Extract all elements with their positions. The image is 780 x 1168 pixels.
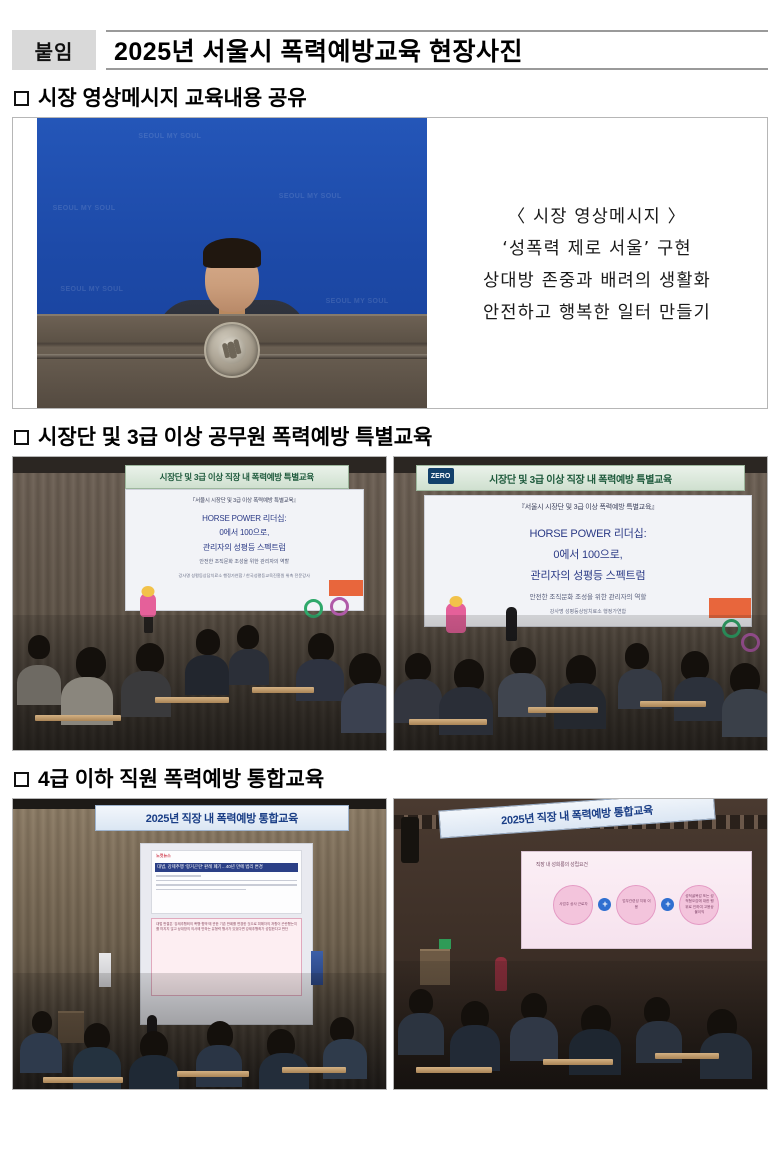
photo-mayor-video-message: SEOUL MY SOUL SEOUL MY SOUL SEOUL MY SOU…	[37, 118, 427, 408]
attendee-shoulders	[554, 683, 606, 729]
attachment-tag: 붙임	[12, 30, 96, 70]
desk	[655, 1053, 719, 1059]
mayor-message-panel: 〈 시장 영상메시지 〉 ‘성폭력 제로 서울’ 구현 상대방 존중과 배려의 …	[427, 118, 767, 408]
photo-executive-training-closeup: 시장단 및 3급 이상 직장 내 폭력예방 특별교육 ZERO 『서울시 시장단…	[393, 456, 768, 751]
diagram-circle: 업무관련성 지위 이용	[616, 885, 656, 925]
backdrop-watermark: SEOUL MY SOUL	[138, 133, 201, 141]
desk	[177, 1071, 249, 1077]
desk	[409, 719, 487, 725]
photo-staff-training-closeup: 2025년 직장 내 폭력예방 통합교육 직장 내 성희롱의 성립요건 사업주 …	[393, 798, 768, 1090]
attendee-head	[237, 625, 259, 649]
desk	[543, 1059, 613, 1065]
section-heading-mayor-video-message: 시장 영상메시지 교육내용 공유	[14, 88, 768, 109]
header-title-rule: 2025년 서울시 폭력예방교육 현장사진	[106, 30, 768, 70]
plus-icon: +	[661, 898, 674, 911]
desk	[528, 707, 598, 713]
attendee-shoulders	[722, 689, 768, 737]
attendee-head	[308, 633, 334, 661]
attendee-head	[510, 647, 536, 675]
page-title: 2025년 서울시 폭력예방교육 현장사진	[114, 32, 523, 68]
attendee-shoulders	[394, 679, 442, 723]
diagram-circle: 사업주 상사 근로자	[553, 885, 593, 925]
slide-line-3: 관리자의 성평등 스펙트럼	[425, 568, 751, 585]
mascot-figure	[140, 593, 156, 617]
event-banner: 시장단 및 3급 이상 직장 내 폭력예방 특별교육	[125, 465, 349, 489]
news-body-line	[156, 884, 297, 886]
slide-main-title: HORSE POWER 리더십:	[126, 513, 363, 525]
checkbox-icon	[14, 430, 29, 445]
attendee-head	[32, 1011, 52, 1033]
slide-footer: 강사명 성평등상담치료소 행정가연합 / 한국성평등교육진흥원 위촉 전문강사	[126, 573, 363, 579]
attendee-head	[625, 643, 649, 669]
podium	[37, 314, 427, 408]
event-banner-label: 시장단 및 3급 이상 직장 내 폭력예방 특별교육	[160, 471, 314, 483]
slide-subtitle: 안전한 조직문화 조성을 위한 관리자의 역할	[126, 558, 363, 565]
plus-icon: +	[598, 898, 611, 911]
desk	[155, 697, 229, 703]
event-banner: 시장단 및 3급 이상 직장 내 폭력예방 특별교육	[416, 465, 744, 491]
attendee-shoulders	[323, 1039, 367, 1079]
projection-screen: 직장 내 성희롱의 성립요건 사업주 상사 근로자 + 업무관련성 지위 이용 …	[521, 851, 752, 949]
photo-executive-training-wide: 시장단 및 3급 이상 직장 내 폭력예방 특별교육 『서울시 시장단 및 3급…	[12, 456, 387, 751]
news-headline-bar: 대법, 강제추행 ‘항거곤란’ 판례 폐기…40년 만에 법리 변경	[155, 863, 298, 872]
attendee-shoulders	[121, 671, 171, 717]
attendee-shoulders	[450, 1025, 500, 1071]
attendee-head	[196, 629, 220, 655]
diagram-circle: 성적굴욕감 또는 성적혐오감에 대한 행위로 인하여 고용상 불이익	[679, 885, 719, 925]
attendee-shoulders	[510, 1017, 558, 1061]
zero-campaign-logo-icon: ZERO	[428, 468, 454, 484]
attendee-shoulders	[398, 1013, 444, 1055]
document-header: 붙임 2025년 서울시 폭력예방교육 현장사진	[12, 30, 768, 70]
attendee-shoulders	[20, 1033, 62, 1073]
desk	[282, 1067, 346, 1073]
event-banner: 2025년 직장 내 폭력예방 통합교육	[95, 805, 349, 831]
news-outlet-logo: 노컷뉴스	[156, 853, 301, 859]
slide-title: 직장 내 성희롱의 성립요건	[536, 861, 751, 868]
stage-speaker-box	[401, 817, 419, 863]
projection-screen: 『서울시 시장단 및 3급 이상 폭력예방 특별교육』 HORSE POWER …	[424, 495, 752, 627]
slide-line-3: 관리자의 성평등 스펙트럼	[126, 542, 363, 554]
message-line: 안전하고 행복한 일터 만들기	[483, 299, 711, 324]
slide-note-text: 대법 판결은 ‘강제추행죄의 폭행·협박’에 관한 기존 판례를 변경한 것으로…	[152, 919, 301, 936]
desk	[43, 1077, 123, 1083]
slide-line-2: 0에서 100으로,	[425, 547, 751, 564]
slide-bracket-title: 『서울시 시장단 및 3급 이상 폭력예방 특별교육』	[126, 496, 363, 504]
attendee-shoulders	[674, 677, 724, 721]
seoul-metropolitan-government-emblem-icon	[204, 322, 260, 378]
attendee-shoulders	[73, 1047, 121, 1090]
section-heading-label: 시장 영상메시지 교육내용 공유	[38, 88, 307, 109]
news-body-line	[156, 889, 245, 891]
slide-line-2: 0에서 100으로,	[126, 527, 363, 539]
slide-accent-block	[329, 580, 363, 596]
attendee-shoulders	[439, 687, 493, 735]
attendee-shoulders	[17, 665, 61, 705]
message-line: 〈 시장 영상메시지 〉	[508, 203, 687, 228]
attendee-head	[76, 647, 106, 679]
desk	[640, 701, 706, 707]
message-line: ‘성폭력 제로 서울’ 구현	[502, 235, 692, 260]
attendee-head	[28, 635, 50, 659]
event-banner-label: 시장단 및 3급 이상 직장 내 폭력예방 특별교육	[489, 471, 672, 486]
document-page: 붙임 2025년 서울시 폭력예방교육 현장사진 시장 영상메시지 교육내용 공…	[0, 30, 780, 1168]
attendee-head	[349, 653, 381, 687]
projection-screen: 『서울시 시장단 및 3급 이상 폭력예방 특별교육』 HORSE POWER …	[125, 489, 364, 611]
attendee-shoulders	[569, 1029, 621, 1075]
slide-subtitle: 안전한 조직문화 조성을 위한 관리자의 역할	[425, 591, 751, 601]
attendee-shoulders	[341, 683, 387, 733]
checkbox-icon	[14, 772, 29, 787]
attendee-shoulders	[196, 1045, 242, 1087]
frame-left-pad	[13, 118, 37, 408]
attendee-head	[405, 653, 431, 681]
speaker-hair	[203, 238, 261, 268]
backdrop-watermark: SEOUL MY SOUL	[53, 205, 116, 213]
slide-bracket-title: 『서울시 시장단 및 3급 이상 폭력예방 특별교육』	[425, 502, 751, 512]
backdrop-watermark: SEOUL MY SOUL	[326, 298, 389, 306]
attendee-shoulders	[229, 649, 269, 685]
message-line: 상대방 존중과 배려의 생활화	[483, 267, 711, 292]
photo-row-executive-training: 시장단 및 3급 이상 직장 내 폭력예방 특별교육 『서울시 시장단 및 3급…	[12, 456, 768, 751]
attendee-head	[136, 643, 164, 673]
section-heading-executive-special-training: 시장단 및 3급 이상 공무원 폭력예방 특별교육	[14, 427, 768, 448]
event-banner-label: 2025년 직장 내 폭력예방 통합교육	[500, 802, 653, 829]
photo-row-staff-training: 2025년 직장 내 폭력예방 통합교육 노컷뉴스 대법, 강제추행 ‘항거곤란…	[12, 798, 768, 1090]
news-body-line	[156, 880, 297, 882]
attendee-shoulders	[129, 1055, 179, 1090]
slide-main-title: HORSE POWER 리더십:	[425, 526, 751, 543]
exit-sign-icon	[439, 939, 451, 949]
news-body-line	[156, 875, 201, 877]
photo-staff-training-wide: 2025년 직장 내 폭력예방 통합교육 노컷뉴스 대법, 강제추행 ‘항거곤란…	[12, 798, 387, 1090]
news-article-slide: 노컷뉴스 대법, 강제추행 ‘항거곤란’ 판례 폐기…40년 만에 법리 변경	[151, 850, 302, 914]
section-heading-staff-integrated-training: 4급 이하 직원 폭력예방 통합교육	[14, 769, 768, 790]
mayor-message-frame: SEOUL MY SOUL SEOUL MY SOUL SEOUL MY SOU…	[12, 117, 768, 409]
desk	[416, 1067, 492, 1073]
decor-ring-icon	[330, 597, 349, 616]
section-heading-label: 시장단 및 3급 이상 공무원 폭력예방 특별교육	[38, 427, 432, 448]
checkbox-icon	[14, 91, 29, 106]
attendee-head	[409, 989, 433, 1015]
backdrop-watermark: SEOUL MY SOUL	[60, 286, 123, 294]
desk	[35, 715, 121, 721]
slide-diagram: 사업주 상사 근로자 + 업무관련성 지위 이용 + 성적굴욕감 또는 성적혐오…	[522, 885, 751, 925]
attendee-shoulders	[296, 659, 344, 701]
backdrop-watermark: SEOUL MY SOUL	[279, 193, 342, 201]
news-headline-text: 대법, 강제추행 ‘항거곤란’ 판례 폐기…40년 만에 법리 변경	[155, 863, 298, 871]
event-banner-label: 2025년 직장 내 폭력예방 통합교육	[146, 810, 298, 826]
attendee-shoulders	[185, 655, 229, 695]
desk	[252, 687, 314, 693]
section-heading-label: 4급 이하 직원 폭력예방 통합교육	[38, 769, 324, 790]
